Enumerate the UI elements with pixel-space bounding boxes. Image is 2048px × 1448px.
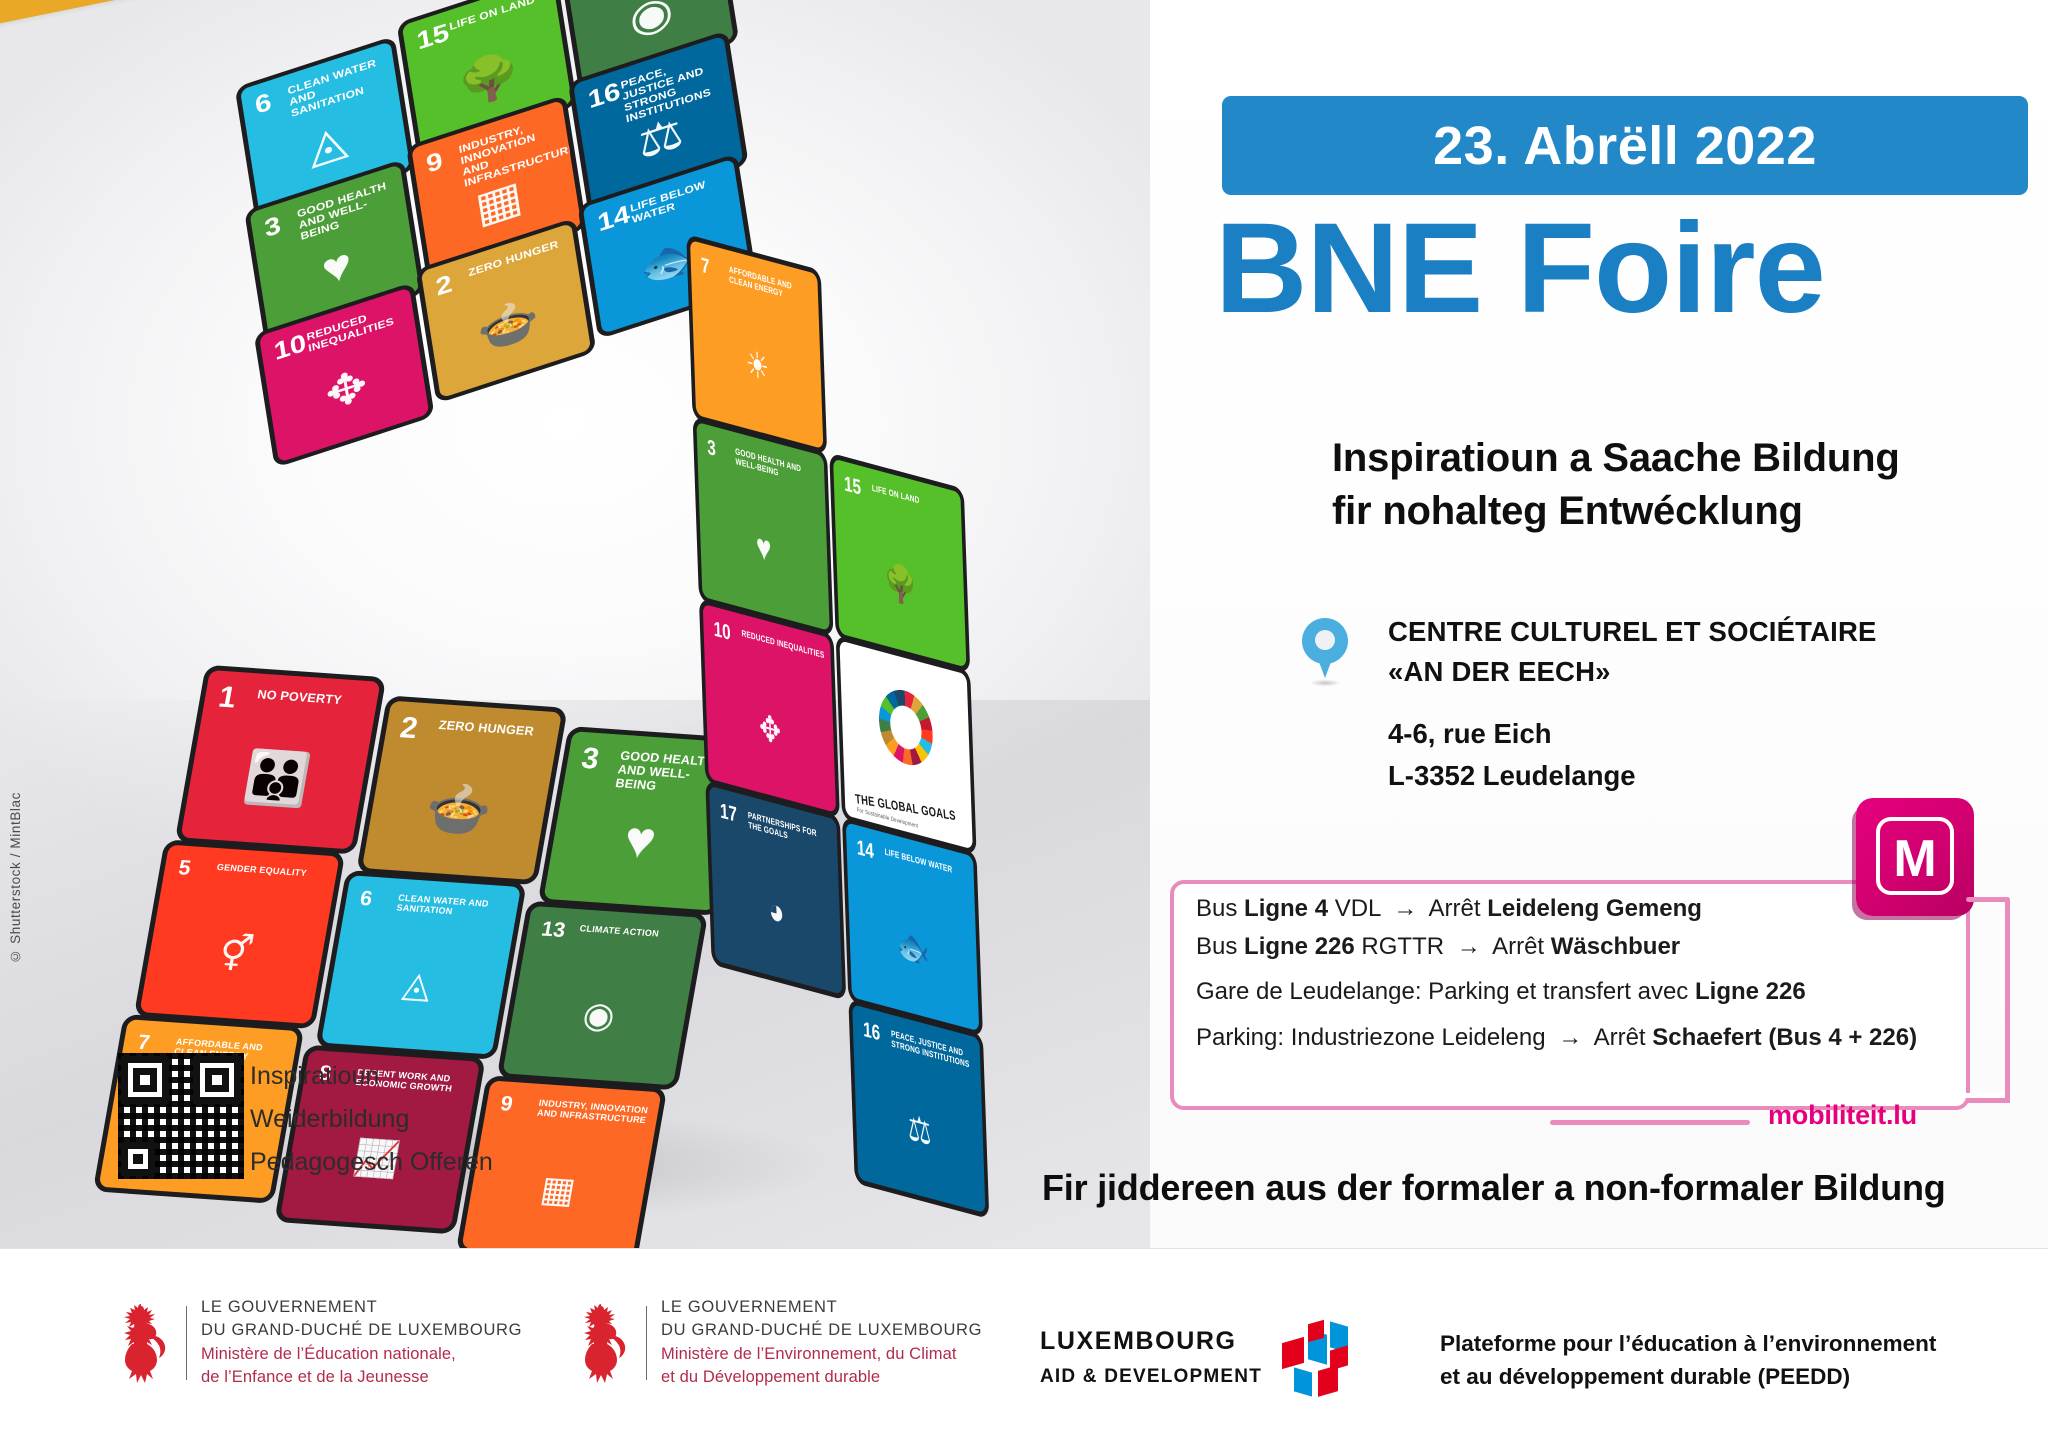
sdg-tile-title: LIFE ON LAND (448, 0, 549, 32)
mobility-l4-tail: (Bus 4 + 226) (1762, 1024, 1917, 1051)
mobility-url-rule (1550, 1120, 1750, 1125)
sdg-tile-number: 2 (434, 272, 454, 301)
sdg-tile-title: ZERO HUNGER (438, 718, 553, 740)
sdg-tile-7-right: 7 AFFORDABLE AND CLEAN ENERGY ☀ (690, 240, 823, 449)
page-subtitle: Inspiratioun a Saache Bildung fir nohalt… (1332, 432, 1900, 538)
lad-line-2: AID & DEVELOPMENT (1040, 1366, 1262, 1388)
sdg-tile-3-right: 3 GOOD HEALTH AND WELL-BEING ♥ (696, 422, 829, 631)
luxembourg-lion-icon (110, 1300, 172, 1386)
sdg-tile-number: 10 (713, 619, 731, 645)
globe-icon: ◉ (580, 997, 618, 1035)
lad-line-1: LUXEMBOURG (1040, 1327, 1262, 1356)
sdg-tile-number: 3 (707, 437, 716, 460)
bowl-icon: 🍲 (421, 783, 495, 839)
sdg-tile-title: LIFE BELOW WATER (884, 847, 968, 880)
qr-code-icon[interactable] (118, 1053, 244, 1179)
luxembourg-aid-development-logo: LUXEMBOURG AID & DEVELOPMENT (1040, 1320, 1352, 1394)
sun-icon: ☀ (745, 344, 770, 386)
sdg-tile-1: 1 NO POVERTY 👪 (180, 670, 380, 849)
peedd-line-2: et au développement durable (PEEDD) (1440, 1360, 1936, 1393)
venue-name-line-2: «AN DER EECH» (1388, 652, 1877, 692)
venue-name-line-1: CENTRE CULTUREL ET SOCIÉTAIRE (1388, 612, 1877, 652)
gov2-line-1: LE GOUVERNEMENT (661, 1296, 982, 1319)
sdg-tile-number: 7 (701, 255, 710, 278)
poster-tagline: Fir jiddereen aus der formaler a non-for… (1042, 1167, 1946, 1209)
partnership-icon: ◕ (768, 891, 785, 931)
sdg-tile-title: CLEAN WATER AND SANITATION (396, 892, 512, 920)
mobility-l1-post: Arrêt (1423, 895, 1487, 922)
gavel-dove-icon: ⚖ (635, 110, 686, 166)
fish-icon: 🐟 (896, 925, 930, 970)
mobility-line-1: Bus Ligne 4 VDL → Arrêt Leideleng Gemeng (1196, 896, 1956, 921)
sdg-tile-number: 17 (720, 801, 738, 827)
page-subtitle-line-2: fir nohalteg Entwécklung (1332, 485, 1900, 538)
qr-code[interactable] (118, 1053, 244, 1179)
sdg-tile-number: 5 (177, 857, 192, 879)
mobility-l3-pre: Gare de Leudelange: Parking et transfert… (1196, 978, 1695, 1005)
luxembourg-lion-icon (570, 1300, 632, 1386)
arrows-icon: ✥ (759, 708, 782, 750)
sdg-tile-number: 6 (253, 90, 273, 119)
family-icon: 👪 (240, 752, 314, 808)
sdg-tile-10-right: 10 REDUCED INEQUALITIES ✥ (703, 604, 836, 813)
sdg-tile-title: NO POVERTY (256, 687, 371, 709)
mobility-lines: Bus Ligne 4 VDL → Arrêt Leideleng Gemeng… (1196, 896, 1956, 1063)
sdg-tile-title: CLIMATE ACTION (579, 923, 693, 941)
sdg-tile-title: PARTNERSHIPS FOR THE GOALS (748, 810, 833, 853)
sdg-tile-number: 15 (415, 20, 451, 54)
mobility-l4-stop: Schaefert (1652, 1024, 1761, 1051)
divider (186, 1306, 187, 1380)
globe-icon: ◉ (626, 0, 676, 43)
mobility-l2-line: Ligne 226 (1244, 933, 1355, 960)
bowl-icon: 🍲 (474, 295, 542, 357)
mobiliteit-m-letter: M (1893, 833, 1936, 885)
gov2-line-3: Ministère de l’Environnement, du Climat (661, 1343, 982, 1366)
cubes-icon: ▦ (538, 1171, 578, 1209)
tree-icon: 🌳 (455, 49, 523, 111)
sdg-tile-title: GOOD HEALTH AND WELL-BEING (735, 446, 820, 489)
mobility-l2-mid: RGTTR (1355, 933, 1451, 960)
sdg-tile-title: REDUCED INEQUALITIES (741, 628, 825, 661)
qr-caption-line-2: Weiderbildung (250, 1098, 493, 1141)
sdg-tile-number: 16 (587, 79, 623, 113)
gov1-line-2: DU GRAND-DUCHÉ DE LUXEMBOURG (201, 1319, 522, 1342)
gov2-line-2: DU GRAND-DUCHÉ DE LUXEMBOURG (661, 1319, 982, 1342)
mobility-l4-pre: Parking: Industriezone Leideleng (1196, 1024, 1552, 1051)
sdg-tile-number: 15 (844, 473, 862, 499)
peedd-text: Plateforme pour l’éducation à l’environn… (1440, 1327, 1936, 1394)
sdg-tile-number: 3 (263, 213, 283, 242)
sdg-tile-number: 2 (398, 713, 420, 744)
gov-logo-environment: LE GOUVERNEMENT DU GRAND-DUCHÉ DE LUXEMB… (570, 1296, 982, 1390)
water-drop-icon: ◬ (305, 117, 350, 171)
tree-icon: 🌳 (884, 562, 918, 607)
mobility-connector (1966, 900, 2010, 1098)
gov-logo-education: LE GOUVERNEMENT DU GRAND-DUCHÉ DE LUXEMB… (110, 1296, 522, 1390)
sdg-tile-number: 14 (856, 837, 874, 863)
venue-address: 4-6, rue Eich L-3352 Leudelange (1388, 713, 1636, 797)
gov-text-environment: LE GOUVERNEMENT DU GRAND-DUCHÉ DE LUXEMB… (661, 1296, 982, 1390)
venue-city: L-3352 Leudelange (1388, 755, 1636, 797)
arrow-right-icon: → (1552, 1024, 1588, 1051)
mobility-line-2: Bus Ligne 226 RGTTR → Arrêt Wäschbuer (1196, 934, 1956, 959)
sdg-tile-15-right: 15 LIFE ON LAND 🌳 (833, 459, 966, 668)
sdg-tile-17: 17 PARTNERSHIPS FOR THE GOALS ◕ (709, 786, 842, 995)
sdg-tile-13-front: 13 CLIMATE ACTION ◉ (502, 906, 702, 1085)
sdg-tile-number: 10 (272, 331, 308, 365)
arrows-icon: ✥ (323, 363, 371, 418)
sdg-tile-number: 6 (358, 888, 373, 910)
qr-caption-line-1: Inspiratioun (250, 1055, 493, 1098)
sdg-tile-number: 13 (540, 919, 567, 941)
heartbeat-icon: ♥ (319, 241, 355, 292)
sdg-tile-6-front: 6 CLEAN WATER AND SANITATION ◬ (321, 875, 521, 1054)
lad-text: LUXEMBOURG AID & DEVELOPMENT (1040, 1327, 1262, 1388)
sdg-tile-16-right: 16 PEACE, JUSTICE AND STRONG INSTITUTION… (852, 1004, 985, 1213)
sdg-tile-title: INDUSTRY, INNOVATION AND INFRASTRUCTURE (536, 1097, 652, 1125)
qr-caption-line-3: Pedagogesch Offeren (250, 1141, 493, 1184)
event-date-label: 23. Abrëll 2022 (1433, 115, 1817, 177)
water-drop-icon: ◬ (400, 966, 434, 1003)
gavel-dove-icon: ⚖ (907, 1109, 932, 1151)
sdg-tile-number: 9 (425, 149, 445, 178)
mobility-connector-bottom (1966, 1098, 2010, 1103)
sdg-tile-2-front: 2 ZERO HUNGER 🍲 (362, 701, 562, 880)
gov-text-education: LE GOUVERNEMENT DU GRAND-DUCHÉ DE LUXEMB… (201, 1296, 522, 1390)
poster-canvas: 3. Editioun 6 CLEAN WATER AND SANITATION… (0, 0, 2048, 1448)
sdg-tile-number: 3 (579, 744, 601, 775)
mobiliteit-m-logo-icon[interactable]: M (1856, 798, 1974, 916)
gender-icon: ⚥ (217, 935, 256, 973)
event-date-badge: 23. Abrëll 2022 (1222, 96, 2028, 195)
sdg-tile-title: LIFE ON LAND (872, 483, 956, 516)
sdg-tile-14-right: 14 LIFE BELOW WATER 🐟 (846, 822, 979, 1031)
sdg-tile-5: 5 GENDER EQUALITY ⚥ (140, 845, 340, 1024)
image-credit: © Shutterstock / MintBlac (8, 792, 23, 964)
sdg-cube-image: 6 CLEAN WATER AND SANITATION ◬ 15 LIFE O… (90, 70, 1150, 1070)
divider (646, 1306, 647, 1380)
sdg-color-wheel-icon (877, 683, 933, 771)
sdg-tile-title: PEACE, JUSTICE AND STRONG INSTITUTIONS (891, 1028, 976, 1071)
sdg-tile-number: 14 (596, 202, 632, 236)
sdg-tile-title: AFFORDABLE AND CLEAN ENERGY (729, 264, 814, 307)
page-subtitle-line-1: Inspiratioun a Saache Bildung (1332, 432, 1900, 485)
mobility-l1-stop: Leideleng Gemeng (1487, 895, 1702, 922)
heartbeat-icon: ♥ (755, 527, 772, 567)
gov1-line-1: LE GOUVERNEMENT (201, 1296, 522, 1319)
lad-cross-icon (1280, 1320, 1352, 1394)
mobility-l1-mid: VDL (1328, 895, 1387, 922)
mobility-line-3: Gare de Leudelange: Parking et transfert… (1196, 979, 1956, 1004)
arrow-right-icon: → (1387, 895, 1423, 922)
page-title: BNE Foire (1215, 205, 1825, 333)
sdg-tile-number: 1 (216, 683, 238, 714)
arrow-right-icon: → (1451, 933, 1487, 960)
sdg-tile-number: 7 (136, 1032, 151, 1054)
sdg-tile-number: 16 (863, 1019, 881, 1045)
mobility-l2-stop: Wäschbuer (1551, 933, 1680, 960)
gov1-line-3: Ministère de l’Éducation nationale, (201, 1343, 522, 1366)
mobility-l1-pre: Bus (1196, 895, 1244, 922)
gov2-line-4: et du Développement durable (661, 1366, 982, 1389)
sdg-tile-title: GENDER EQUALITY (216, 862, 330, 880)
qr-caption: Inspiratioun Weiderbildung Pedagogesch O… (250, 1055, 493, 1184)
mobility-l4-post: Arrêt (1588, 1024, 1652, 1051)
venue-street: 4-6, rue Eich (1388, 713, 1636, 755)
mobility-l2-post: Arrêt (1487, 933, 1551, 960)
venue-name: CENTRE CULTUREL ET SOCIÉTAIRE «AN DER EE… (1388, 612, 1877, 692)
heartbeat-icon: ♥ (620, 814, 660, 867)
mobility-l1-line: Ligne 4 (1244, 895, 1328, 922)
global-goals-tile: THE GLOBAL GOALS For Sustainable Develop… (839, 640, 972, 849)
mobility-l3-line: Ligne 226 (1695, 978, 1806, 1005)
gov1-line-4: de l’Enfance et de la Jeunesse (201, 1366, 522, 1389)
peedd-line-1: Plateforme pour l’éducation à l’environn… (1440, 1327, 1936, 1360)
mobility-l2-pre: Bus (1196, 933, 1244, 960)
mobility-line-4: Parking: Industriezone Leideleng → Arrêt… (1196, 1025, 1956, 1050)
location-pin-icon (1302, 618, 1348, 680)
global-goals-label: THE GLOBAL GOALS (854, 790, 956, 822)
sdg-tile-number: 9 (499, 1093, 514, 1115)
mobiliteit-url[interactable]: mobiliteit.lu (1768, 1100, 1917, 1131)
